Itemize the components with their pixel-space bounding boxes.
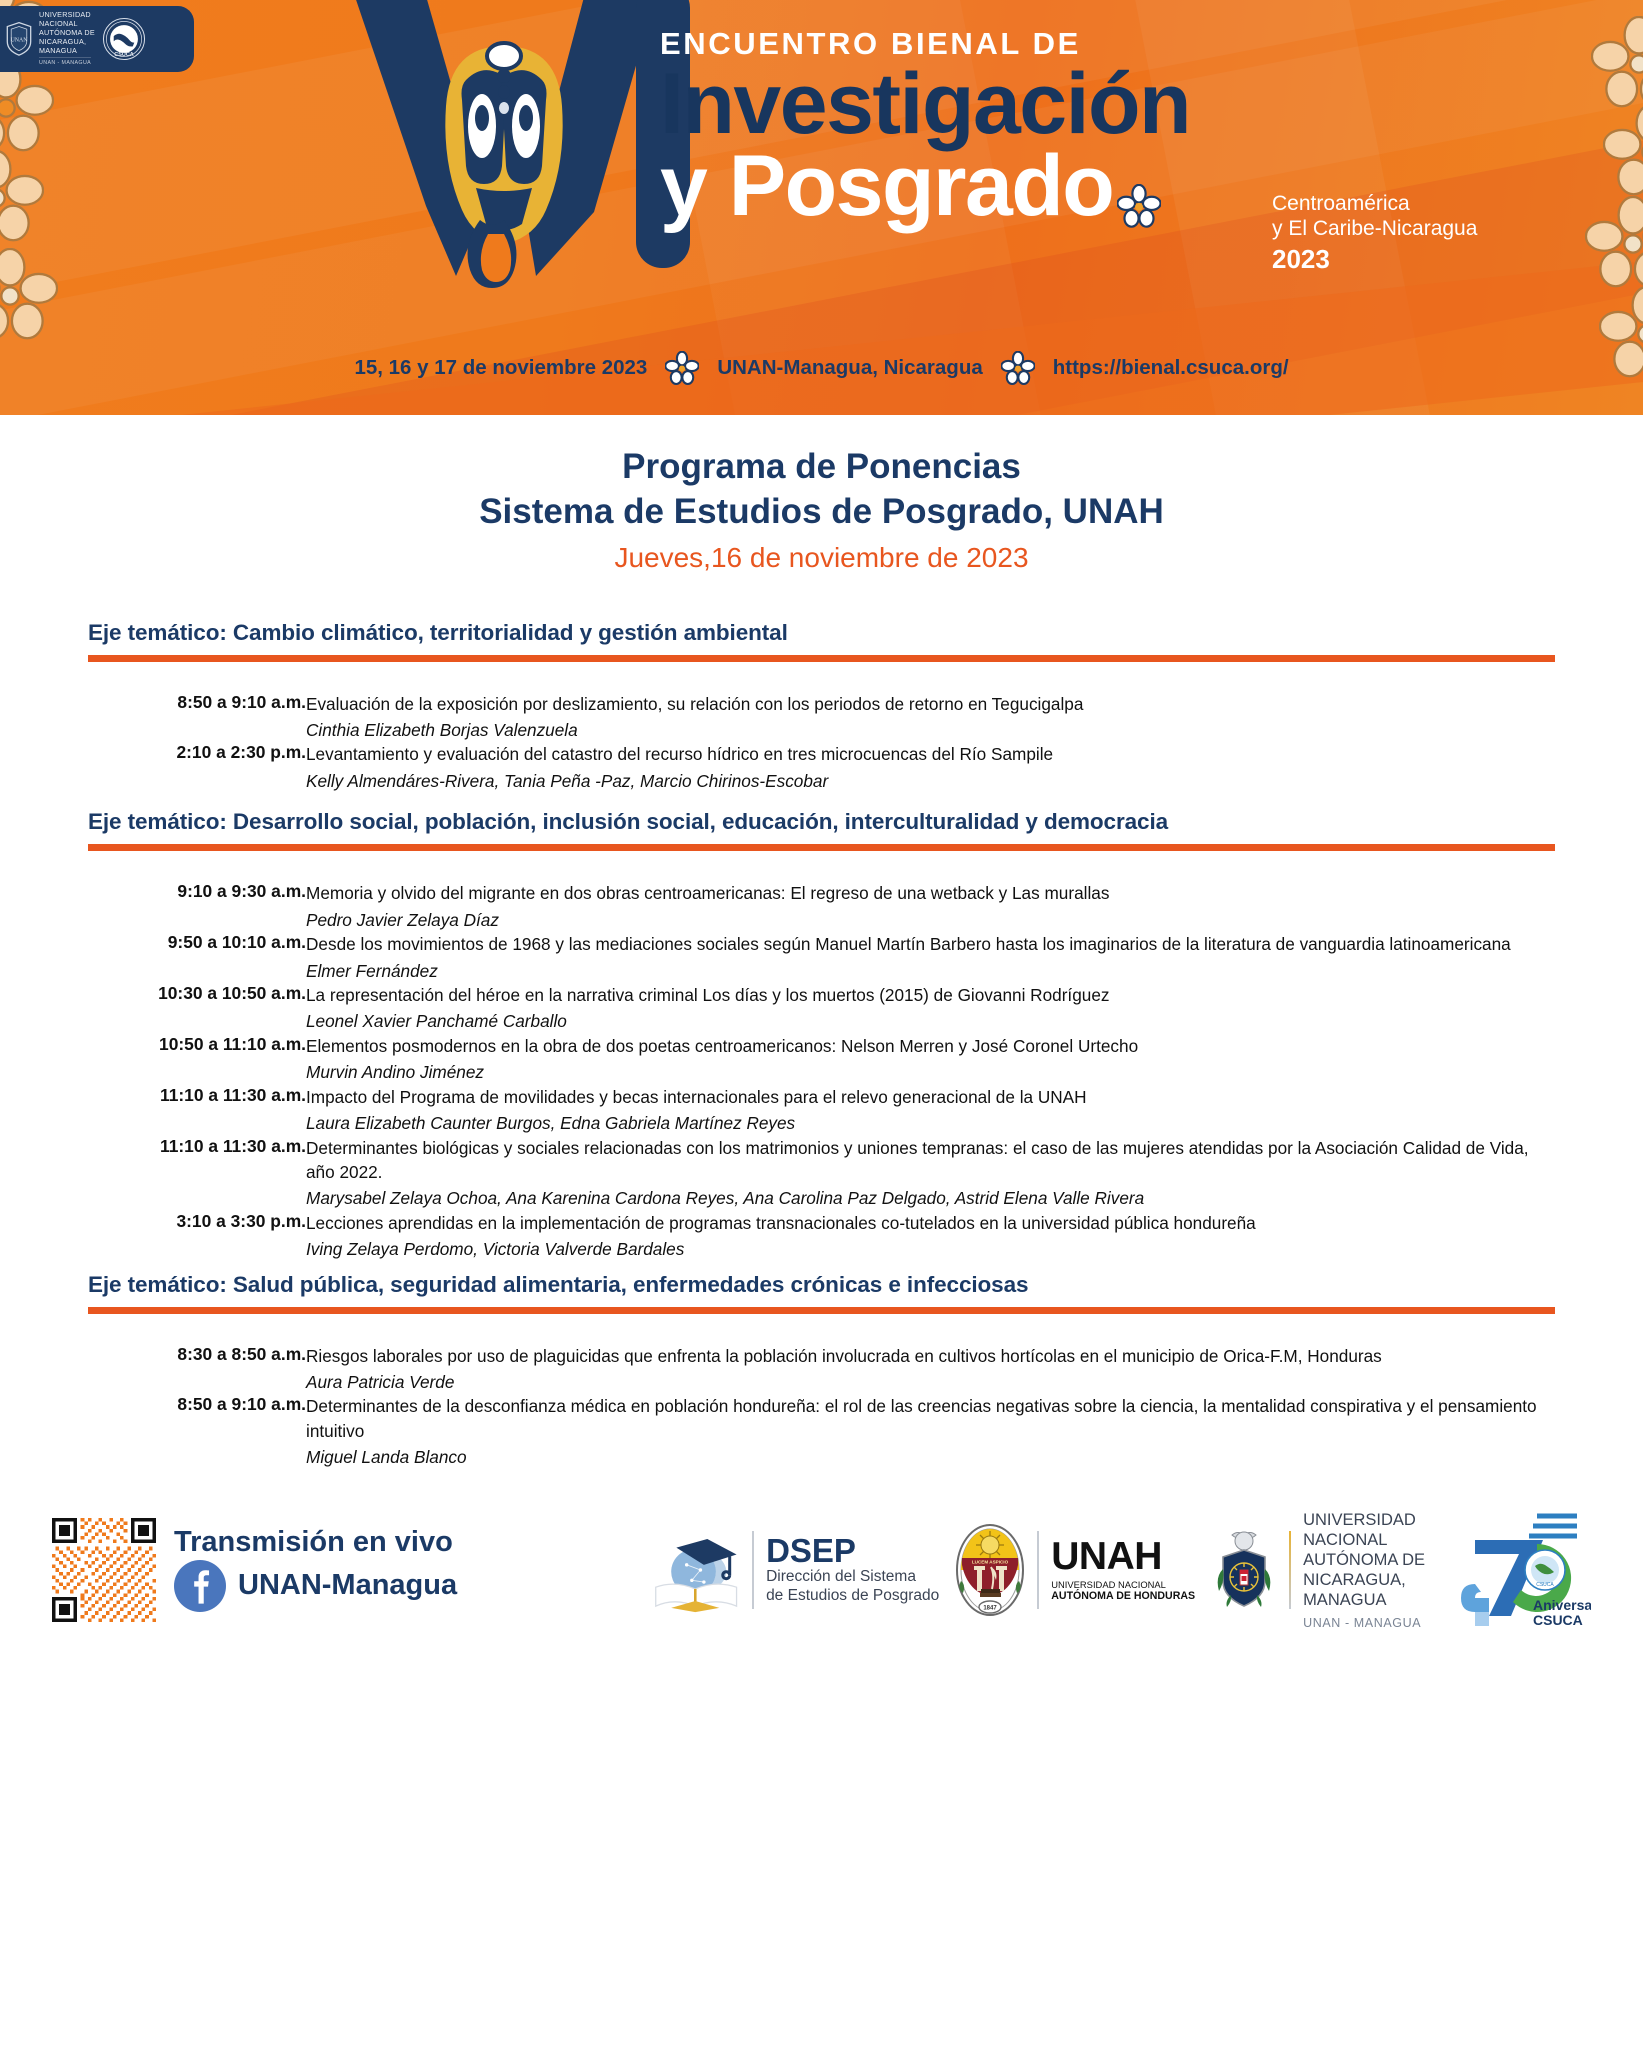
talk-title: Levantamiento y evaluación del catastro …	[306, 742, 1555, 766]
talk-time: 2:10 a 2:30 p.m.	[88, 742, 306, 793]
logo-divider	[1037, 1531, 1039, 1609]
talk-body: Determinantes biológicas y sociales rela…	[306, 1136, 1555, 1211]
talk-authors: Elmer Fernández	[306, 959, 1555, 983]
talk-title: Memoria y olvido del migrante en dos obr…	[306, 881, 1555, 905]
unah-full-name: UNIVERSIDAD NACIONAL AUTÓNOMA DE HONDURA…	[1051, 1579, 1195, 1603]
talk-authors: Cinthia Elizabeth Borjas Valenzuela	[306, 718, 1555, 742]
facebook-row[interactable]: UNAN-Managua	[174, 1560, 457, 1612]
page-title-date: Jueves,16 de noviembre de 2023	[0, 542, 1643, 574]
unan-sub: UNAN - MANAGUA	[1303, 1616, 1425, 1630]
page-footer: Transmisión en vivo UNAN-Managua	[0, 1510, 1643, 1652]
unah-text: UNAH UNIVERSIDAD NACIONAL AUTÓNOMA DE HO…	[1051, 1537, 1195, 1603]
table-row: 9:50 a 10:10 a.m. Desde los movimientos …	[88, 932, 1555, 983]
banner-year: 2023	[1272, 244, 1477, 275]
dsep-logo: DSEP Dirección del Sistema de Estudios d…	[654, 1527, 939, 1613]
unah-logo: LUCEM ASPICIO 1847	[955, 1523, 1195, 1617]
partner-logos: DSEP Dirección del Sistema de Estudios d…	[654, 1510, 1591, 1630]
talk-authors: Pedro Javier Zelaya Díaz	[306, 908, 1555, 932]
facebook-icon[interactable]	[174, 1560, 226, 1612]
talk-body: Levantamiento y evaluación del catastro …	[306, 742, 1555, 793]
banner-info-row: 15, 16 y 17 de noviembre 2023 UNAN-Manag…	[0, 351, 1643, 385]
talk-authors: Leonel Xavier Panchamé Carballo	[306, 1009, 1555, 1033]
table-row: 8:50 a 9:10 a.m. Evaluación de la exposi…	[88, 692, 1555, 743]
unah-seal-icon: LUCEM ASPICIO 1847	[955, 1523, 1025, 1617]
talk-title: Lecciones aprendidas en la implementació…	[306, 1211, 1555, 1235]
qr-code[interactable]	[52, 1518, 156, 1622]
unan-managua-logo: UNIVERSIDAD NACIONAL AUTÓNOMA DE NICARAG…	[1211, 1510, 1425, 1630]
section-heading: Eje temático: Cambio climático, territor…	[88, 620, 1555, 646]
unah-acronym: UNAH	[1051, 1537, 1195, 1576]
banner-line2: y Posgrado	[660, 144, 1190, 228]
talk-authors: Aura Patricia Verde	[306, 1370, 1555, 1394]
table-row: 10:50 a 11:10 a.m. Elementos posmodernos…	[88, 1034, 1555, 1085]
flower-icon	[1117, 184, 1161, 228]
talk-time: 8:50 a 9:10 a.m.	[88, 692, 306, 743]
roman-numeral-vi-logo	[336, 0, 696, 306]
csuca-label: CSUCA	[114, 52, 134, 58]
table-row: 2:10 a 2:30 p.m. Levantamiento y evaluac…	[88, 742, 1555, 793]
logo-divider	[1289, 1531, 1291, 1609]
banner-venue: UNAN-Managua, Nicaragua	[717, 356, 982, 380]
program-section: Eje temático: Cambio climático, territor…	[88, 620, 1555, 794]
banner-eyebrow: ENCUENTRO BIENAL DE	[660, 28, 1190, 59]
section-divider	[88, 844, 1555, 851]
poster-page: UNAN UNIVERSIDAD NACIONAL AUTÓNOMA DE NI…	[0, 0, 1643, 2048]
dsep-graduation-globe-icon	[654, 1527, 740, 1613]
svg-text:UNAN: UNAN	[11, 37, 29, 43]
talk-time: 9:50 a 10:10 a.m.	[88, 932, 306, 983]
section-divider	[88, 1307, 1555, 1314]
talk-authors: Laura Elizabeth Caunter Burgos, Edna Gab…	[306, 1111, 1555, 1135]
unan-seal-icon	[1211, 1529, 1277, 1611]
table-row: 3:10 a 3:30 p.m. Lecciones aprendidas en…	[88, 1211, 1555, 1262]
talk-title: Determinantes biológicas y sociales rela…	[306, 1136, 1555, 1185]
banner-dates: 15, 16 y 17 de noviembre 2023	[354, 356, 647, 380]
talk-authors: Marysabel Zelaya Ochoa, Ana Karenina Car…	[306, 1186, 1555, 1210]
flower-separator-icon-2	[1001, 351, 1035, 385]
live-stream-block: Transmisión en vivo UNAN-Managua	[52, 1518, 457, 1622]
talk-body: Memoria y olvido del migrante en dos obr…	[306, 881, 1555, 932]
section-heading: Eje temático: Salud pública, seguridad a…	[88, 1272, 1555, 1298]
program-content: Eje temático: Cambio climático, territor…	[0, 620, 1643, 1470]
csuca-seal-icon: CSUCA	[102, 17, 146, 61]
talk-body: Riesgos laborales por uso de plaguicidas…	[306, 1344, 1555, 1395]
section-divider	[88, 655, 1555, 662]
program-section: Eje temático: Salud pública, seguridad a…	[88, 1272, 1555, 1470]
talk-authors: Kelly Almendáres-Rivera, Tania Peña -Paz…	[306, 769, 1555, 793]
talk-title: La representación del héroe en la narrat…	[306, 983, 1555, 1007]
badge-university-text: UNIVERSIDAD NACIONAL AUTÓNOMA DE NICARAG…	[39, 11, 95, 66]
table-row: 8:30 a 8:50 a.m. Riesgos laborales por u…	[88, 1344, 1555, 1395]
program-section: Eje temático: Desarrollo social, poblaci…	[88, 809, 1555, 1261]
talk-time: 3:10 a 3:30 p.m.	[88, 1211, 306, 1262]
table-row: 8:50 a 9:10 a.m. Determinantes de la des…	[88, 1394, 1555, 1469]
table-row: 9:10 a 9:30 a.m. Memoria y olvido del mi…	[88, 881, 1555, 932]
talk-time: 10:30 a 10:50 a.m.	[88, 983, 306, 1034]
talk-time: 10:50 a 11:10 a.m.	[88, 1034, 306, 1085]
section-heading: Eje temático: Desarrollo social, poblaci…	[88, 809, 1555, 835]
talks-table: 8:30 a 8:50 a.m. Riesgos laborales por u…	[88, 1344, 1555, 1470]
banner-line1: Investigación	[660, 63, 1190, 146]
talk-title: Riesgos laborales por uso de plaguicidas…	[306, 1344, 1555, 1368]
talk-time: 9:10 a 9:30 a.m.	[88, 881, 306, 932]
talk-body: La representación del héroe en la narrat…	[306, 983, 1555, 1034]
live-stream-text: Transmisión en vivo UNAN-Managua	[174, 1528, 457, 1612]
talks-table: 9:10 a 9:30 a.m. Memoria y olvido del mi…	[88, 881, 1555, 1261]
talk-body: Desde los movimientos de 1968 y las medi…	[306, 932, 1555, 983]
live-stream-label: Transmisión en vivo	[174, 1528, 457, 1557]
talk-title: Determinantes de la desconfianza médica …	[306, 1394, 1555, 1443]
talk-authors: Iving Zelaya Perdomo, Victoria Valverde …	[306, 1237, 1555, 1261]
csuca-ring-label: CSUCA	[1536, 1582, 1554, 1588]
unan-text: UNIVERSIDAD NACIONAL AUTÓNOMA DE NICARAG…	[1303, 1510, 1425, 1630]
page-title-block: Programa de Ponencias Sistema de Estudio…	[0, 445, 1643, 574]
talk-title: Evaluación de la exposición por deslizam…	[306, 692, 1555, 716]
talk-title: Impacto del Programa de movilidades y be…	[306, 1085, 1555, 1109]
logo-divider	[752, 1531, 754, 1609]
table-row: 10:30 a 10:50 a.m. La representación del…	[88, 983, 1555, 1034]
banner-headline: ENCUENTRO BIENAL DE Investigación y Posg…	[660, 28, 1190, 228]
talk-time: 8:50 a 9:10 a.m.	[88, 1394, 306, 1469]
banner-region: Centroamérica y El Caribe-Nicaragua 2023	[1272, 192, 1477, 274]
csuca-name-label: CSUCA	[1533, 1612, 1583, 1628]
unan-full-name: UNIVERSIDAD NACIONAL AUTÓNOMA DE NICARAG…	[1303, 1510, 1425, 1611]
page-title-line1: Programa de Ponencias	[0, 445, 1643, 490]
csuca-anniversary-label: Aniversario	[1533, 1597, 1591, 1613]
table-row: 11:10 a 11:30 a.m. Impacto del Programa …	[88, 1085, 1555, 1136]
talk-body: Lecciones aprendidas en la implementació…	[306, 1211, 1555, 1262]
event-banner: UNAN UNIVERSIDAD NACIONAL AUTÓNOMA DE NI…	[0, 0, 1643, 415]
talk-time: 11:10 a 11:30 a.m.	[88, 1085, 306, 1136]
facebook-page-name[interactable]: UNAN-Managua	[238, 1569, 457, 1602]
page-title-line2: Sistema de Estudios de Posgrado, UNAH	[0, 490, 1643, 535]
talk-time: 8:30 a 8:50 a.m.	[88, 1344, 306, 1395]
talk-body: Determinantes de la desconfianza médica …	[306, 1394, 1555, 1469]
talk-authors: Murvin Andino Jiménez	[306, 1060, 1555, 1084]
unah-year: 1847	[984, 1605, 998, 1611]
talk-authors: Miguel Landa Blanco	[306, 1445, 1555, 1469]
unan-csuca-badge: UNAN UNIVERSIDAD NACIONAL AUTÓNOMA DE NI…	[0, 6, 194, 72]
flower-separator-icon	[665, 351, 699, 385]
unah-motto: LUCEM ASPICIO	[972, 1559, 1009, 1564]
talks-table: 8:50 a 9:10 a.m. Evaluación de la exposi…	[88, 692, 1555, 794]
unan-shield-icon: UNAN	[6, 22, 32, 56]
talk-body: Evaluación de la exposición por deslizam…	[306, 692, 1555, 743]
dsep-acronym: DSEP	[766, 1532, 856, 1569]
talk-title: Desde los movimientos de 1968 y las medi…	[306, 932, 1555, 956]
banner-url[interactable]: https://bienal.csuca.org/	[1053, 356, 1289, 380]
talk-body: Impacto del Programa de movilidades y be…	[306, 1085, 1555, 1136]
dsep-text: DSEP Dirección del Sistema de Estudios d…	[766, 1534, 939, 1606]
dsep-subtitle: Dirección del Sistema de Estudios de Pos…	[766, 1568, 939, 1606]
talk-title: Elementos posmodernos en la obra de dos …	[306, 1034, 1555, 1058]
talk-time: 11:10 a 11:30 a.m.	[88, 1136, 306, 1211]
table-row: 11:10 a 11:30 a.m. Determinantes biológi…	[88, 1136, 1555, 1211]
csuca-75-anniversary-logo: CSUCA Aniversario CSUCA	[1441, 1510, 1591, 1630]
talk-body: Elementos posmodernos en la obra de dos …	[306, 1034, 1555, 1085]
